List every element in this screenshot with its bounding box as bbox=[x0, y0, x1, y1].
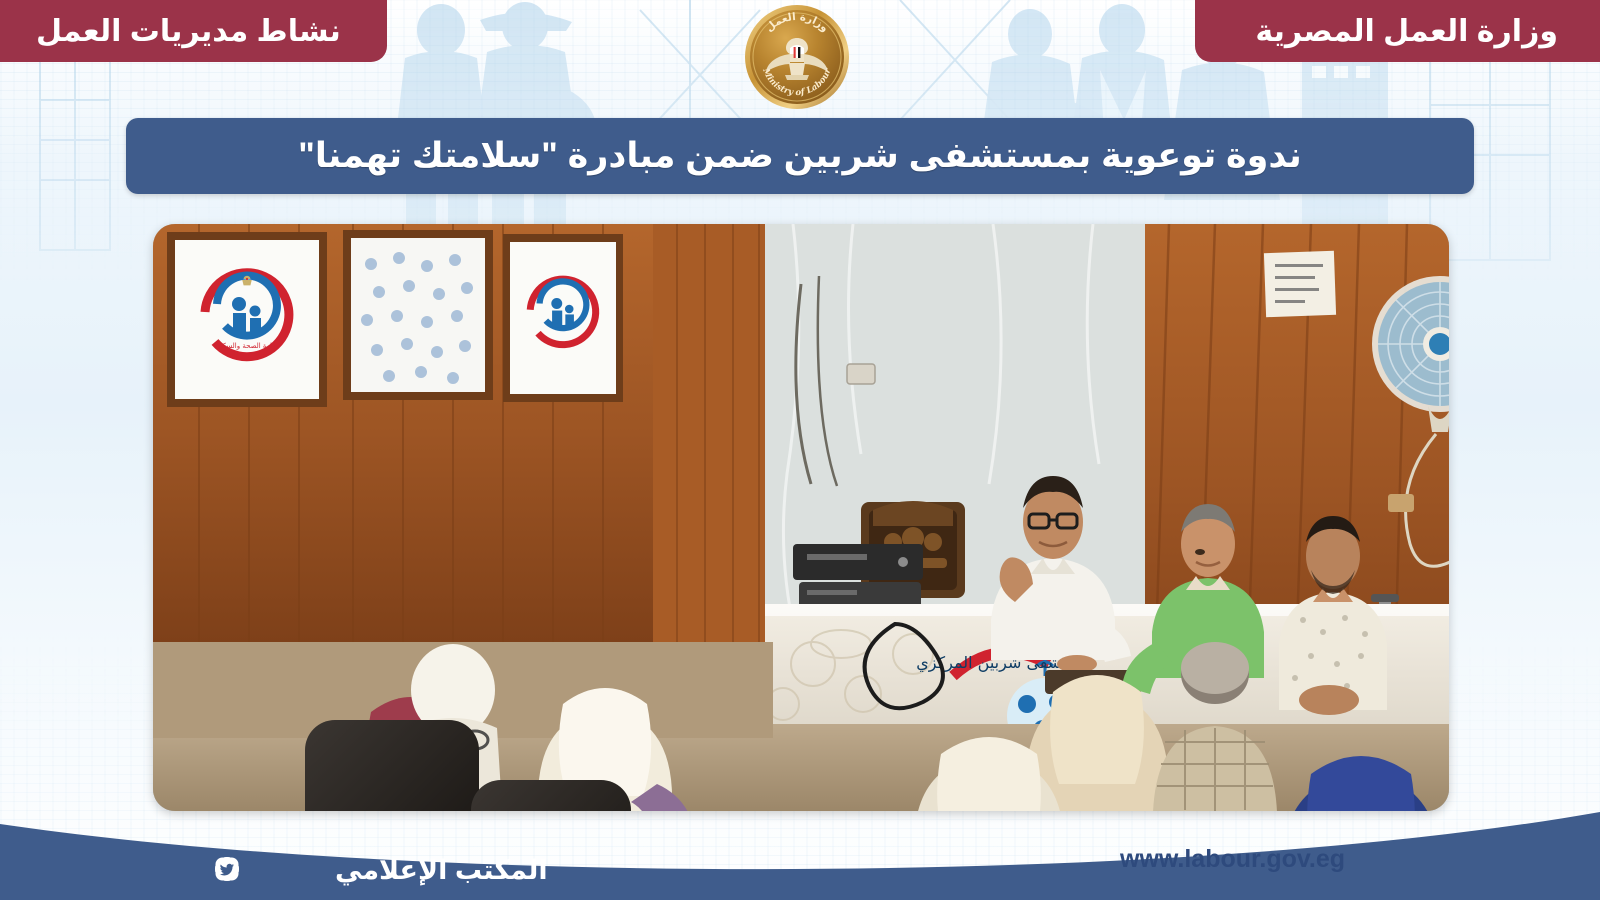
ministry-name-label: وزارة العمل المصرية bbox=[1255, 14, 1558, 49]
svg-text:وزارة الصحة والسكان: وزارة الصحة والسكان bbox=[215, 342, 278, 350]
news-card-canvas: وزارة العمل المصرية نشاط مديريات العمل bbox=[0, 0, 1600, 900]
twitter-icon[interactable] bbox=[176, 856, 202, 882]
media-office-label: المكتب الإعلامي bbox=[335, 855, 548, 886]
ministry-of-labour-seal-icon: وزارة العمل Ministry of Labour bbox=[748, 2, 852, 106]
website-url[interactable]: www.labour.gov.eg bbox=[1120, 845, 1345, 874]
headline-banner: ندوة توعوية بمستشفى شربين ضمن مبادرة "سل… bbox=[126, 118, 1474, 194]
ministry-name-ribbon: وزارة العمل المصرية bbox=[1195, 0, 1600, 62]
footer: المكتب الإعلامي www.labour.gov.eg bbox=[0, 790, 1600, 900]
section-activity-label: نشاط مديريات العمل bbox=[36, 14, 341, 49]
page-title: ندوة توعوية بمستشفى شربين ضمن مبادرة "سل… bbox=[276, 137, 1324, 176]
event-photo: وزارة الصحة والسكان bbox=[153, 224, 1449, 811]
section-activity-ribbon: نشاط مديريات العمل bbox=[0, 0, 387, 62]
social-links bbox=[176, 856, 278, 882]
